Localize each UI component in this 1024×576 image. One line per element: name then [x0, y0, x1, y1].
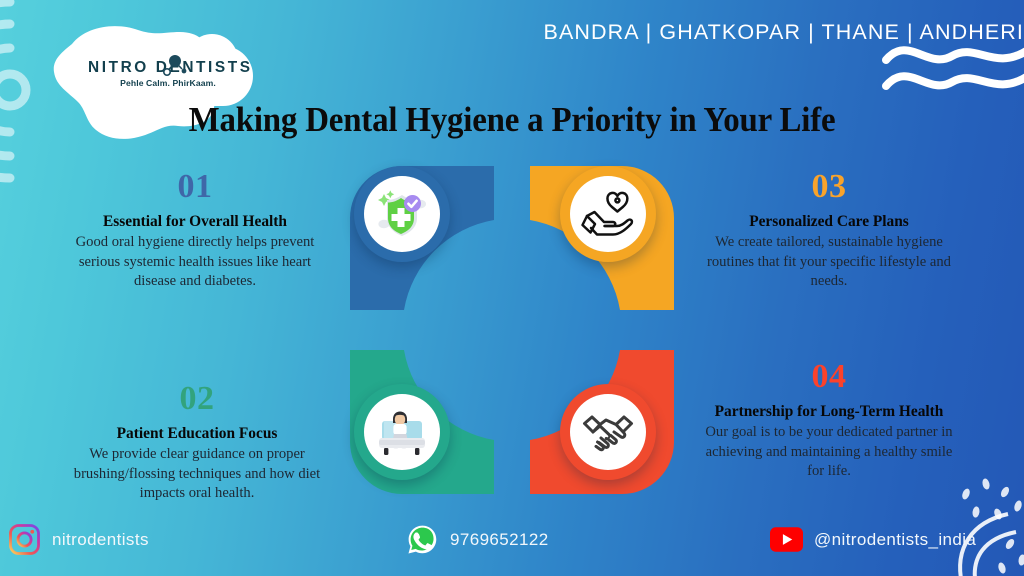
feature-body-2: We provide clear guidance on proper brus… [68, 445, 326, 503]
feature-block-2: 02 Patient Education Focus We provide cl… [68, 382, 326, 503]
youtube-handle: @nitrodentists_india [814, 530, 976, 550]
feature-block-4: 04 Partnership for Long-Term Health Our … [700, 360, 958, 481]
whatsapp-phone: 9769652122 [450, 530, 549, 550]
feature-heading-4: Partnership for Long-Term Health [700, 403, 958, 420]
feature-heading-2: Patient Education Focus [68, 425, 326, 442]
double-wave-icon [882, 36, 1024, 102]
feature-block-3: 03 Personalized Care Plans We create tai… [700, 170, 958, 291]
locations-header: BANDRA | GHATKOPAR | THANE | ANDHERI [544, 20, 1024, 45]
youtube-icon[interactable] [770, 523, 803, 556]
feature-body-1: Good oral hygiene directly helps prevent… [66, 233, 324, 291]
handshake-icon [580, 410, 636, 454]
logo-blob-shape [28, 22, 258, 162]
feature-body-4: Our goal is to be your dedicated partner… [700, 423, 958, 481]
feature-number-4: 04 [700, 360, 958, 394]
feature-number-1: 01 [66, 170, 324, 204]
youtube-footer-item[interactable]: @nitrodentists_india [770, 523, 976, 556]
node-icon-4 [560, 384, 656, 480]
node-icon-3 [560, 166, 656, 262]
node-icon-1 [354, 166, 450, 262]
patient-in-bed-icon [373, 407, 431, 457]
node-icon-2 [354, 384, 450, 480]
feature-block-1: 01 Essential for Overall Health Good ora… [66, 170, 324, 291]
feature-heading-3: Personalized Care Plans [700, 213, 958, 230]
hand-holding-heart-icon [580, 188, 636, 240]
instagram-footer-item[interactable]: nitrodentists [8, 523, 149, 556]
feature-body-3: We create tailored, sustainable hygiene … [700, 233, 958, 291]
feature-number-3: 03 [700, 170, 958, 204]
instagram-icon[interactable] [8, 523, 41, 556]
shield-plus-check-icon [375, 187, 429, 241]
whatsapp-footer-item[interactable]: 9769652122 [406, 523, 549, 556]
feature-number-2: 02 [68, 382, 326, 416]
brand-logo: NITRO DENTISTS Pehle Calm. PhirKaam. [88, 60, 248, 88]
tooth-dot-mark-icon [160, 54, 190, 80]
page-title: Making Dental Hygiene a Priority in Your… [31, 100, 994, 140]
whatsapp-icon[interactable] [406, 523, 439, 556]
concentric-arc-rings-icon [0, 0, 128, 184]
feature-heading-1: Essential for Overall Health [66, 213, 324, 230]
instagram-handle: nitrodentists [52, 530, 149, 550]
four-quadrant-ring-graphic [344, 160, 680, 500]
